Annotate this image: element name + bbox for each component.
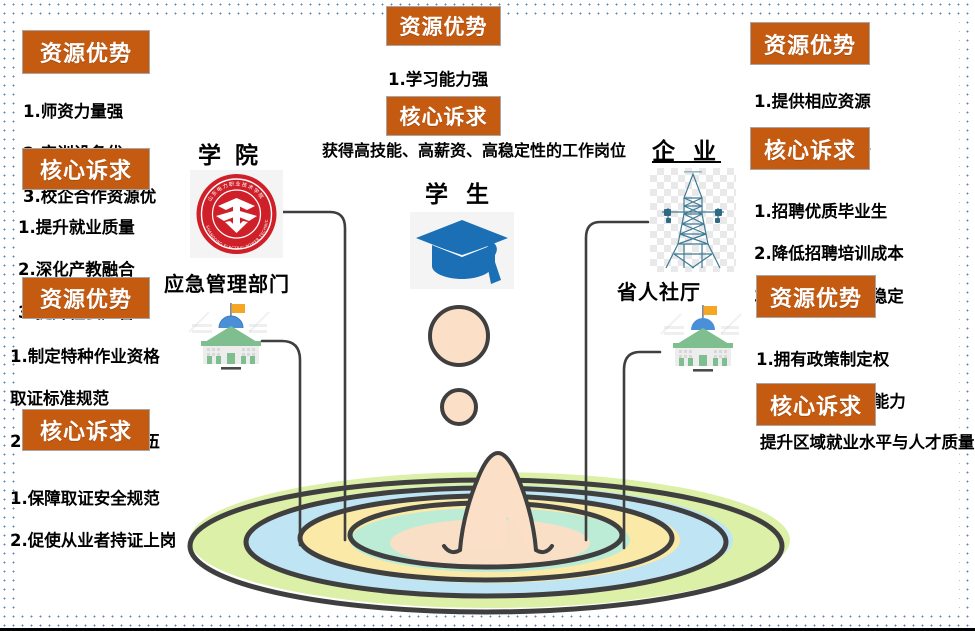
- college-seal-icon: 山东电力职业技术学院 SHANDONG ELECTRIC POWER TECHN…: [192, 172, 281, 256]
- caption-college: 学 院: [198, 136, 261, 170]
- chip-emergency-resource: 资源优势: [22, 277, 150, 319]
- caption-student: 学 生: [425, 175, 494, 209]
- chip-label: 核心诉求: [764, 133, 856, 165]
- chip-label: 资源优势: [40, 36, 132, 68]
- chip-student-demand: 核心诉求: [386, 96, 501, 136]
- power-tower-icon: [650, 168, 736, 272]
- chip-enterprise-resource: 资源优势: [750, 22, 870, 65]
- government-building-icon-hrss: [655, 300, 751, 372]
- list-item: 2.促使从业者持证上岗: [10, 530, 210, 551]
- chip-college-demand: 核心诉求: [22, 148, 150, 190]
- chip-enterprise-demand: 核心诉求: [750, 127, 870, 170]
- government-building-icon-emergency: [183, 298, 279, 370]
- caption-enterprise: 企 业: [652, 132, 721, 166]
- list-item: 1.提升就业质量: [18, 217, 208, 238]
- chip-label: 核心诉求: [400, 101, 488, 131]
- list-item: 提升区域就业水平与人才质量: [760, 432, 975, 453]
- list-item: 1.保障取证安全规范: [10, 488, 210, 509]
- chip-hrss-demand: 核心诉求: [756, 383, 876, 426]
- list-student-demand: 获得高技能、高薪资、高稳定性的工作岗位: [322, 141, 682, 161]
- list-item: 1.提供相应资源: [754, 91, 954, 112]
- chip-student-resource: 资源优势: [386, 6, 501, 46]
- person-face-large-icon: [428, 305, 490, 367]
- caption-emergency-dept: 应急管理部门: [164, 268, 290, 297]
- list-item: 获得高技能、高薪资、高稳定性的工作岗位: [322, 141, 682, 161]
- chip-college-resource: 资源优势: [22, 30, 150, 74]
- chip-label: 资源优势: [764, 28, 856, 60]
- chip-label: 资源优势: [770, 281, 862, 313]
- chip-label: 核心诉求: [40, 414, 132, 446]
- chip-label: 资源优势: [40, 282, 132, 314]
- chip-emergency-demand: 核心诉求: [22, 409, 150, 451]
- graduation-cap-icon: [412, 214, 512, 287]
- diagram-canvas: 资源优势 1.师资力量强 2.实训设备优 3.校企合作资源优 核心诉求 1.提升…: [0, 0, 975, 631]
- list-item: 1.拥有政策制定权: [756, 349, 971, 370]
- chip-hrss-resource: 资源优势: [756, 275, 876, 318]
- list-item: 1.学习能力强: [388, 69, 578, 90]
- list-item: 1.制定特种作业资格: [10, 346, 205, 367]
- chip-label: 核心诉求: [770, 389, 862, 421]
- list-hrss-demand: 提升区域就业水平与人才质量: [760, 432, 975, 453]
- person-face-small-icon: [440, 388, 478, 426]
- list-item: 1.师资力量强: [23, 101, 213, 122]
- chip-label: 资源优势: [400, 11, 488, 41]
- list-item: 2.降低招聘培训成本: [754, 243, 969, 264]
- water-ripple-splash-graphic: [170, 430, 810, 615]
- chip-label: 核心诉求: [40, 153, 132, 185]
- list-emergency-demand: 1.保障取证安全规范 2.促使从业者持证上岗: [10, 467, 210, 573]
- list-item: 取证标准规范: [10, 388, 205, 409]
- list-item: 1.招聘优质毕业生: [754, 201, 969, 222]
